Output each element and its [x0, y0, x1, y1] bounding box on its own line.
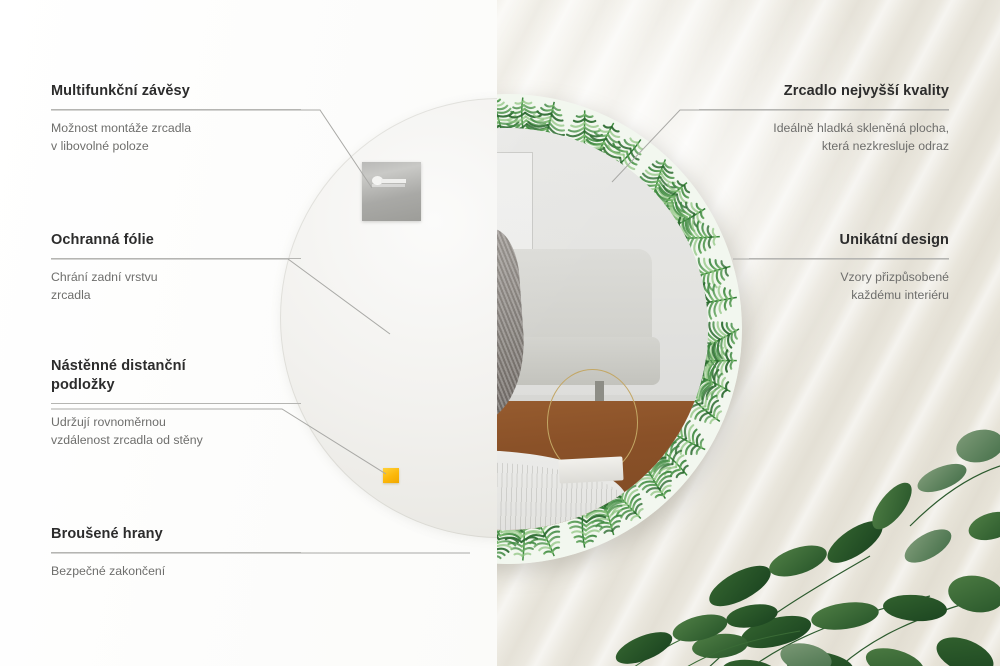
mirror-hanger-plate	[362, 162, 421, 221]
callout-rule	[699, 109, 949, 110]
callout-title: Nástěnné distanční podložky	[51, 357, 301, 395]
callout-zrcadlo-nejvyssi-kvality: Zrcadlo nejvyšší kvality Ideálně hladká …	[699, 82, 949, 155]
callout-title: Broušené hrany	[51, 525, 301, 544]
wall-spacer-pad	[383, 468, 399, 483]
callout-nastenne-distancni-podlozky: Nástěnné distanční podložky Udržují rovn…	[51, 357, 301, 449]
callout-title: Ochranná fólie	[51, 231, 301, 250]
callout-description: Bezpečné zakončení	[51, 563, 301, 581]
foliage-cluster-back	[600, 436, 850, 666]
callout-description: Ideálně hladká skleněná plocha, která ne…	[699, 120, 949, 155]
callout-description: Možnost montáže zrcadla v libovolné polo…	[51, 120, 301, 155]
hanger-slit	[381, 179, 406, 183]
callout-rule	[51, 258, 301, 259]
callout-title: Unikátní design	[749, 231, 949, 250]
infographic-canvas: Multifunkční závěsy Možnost montáže zrca…	[0, 0, 1000, 666]
callout-rule	[51, 403, 301, 404]
callout-title: Zrcadlo nejvyšší kvality	[699, 82, 949, 101]
callout-rule	[749, 258, 949, 259]
callout-brousene-hrany: Broušené hrany Bezpečné zakončení	[51, 525, 301, 581]
hanger-slot-shadow	[372, 184, 405, 187]
callout-description: Udržují rovnoměrnou vzdálenost zrcadla o…	[51, 414, 301, 449]
callout-description: Chrání zadní vrstvu zrcadla	[51, 269, 301, 304]
callout-title: Multifunkční závěsy	[51, 82, 301, 101]
callout-multifunkcni-zavesy: Multifunkční závěsy Možnost montáže zrca…	[51, 82, 301, 155]
callout-rule	[51, 109, 301, 110]
callout-rule	[51, 552, 301, 553]
callout-ochranna-folie: Ochranná fólie Chrání zadní vrstvu zrcad…	[51, 231, 301, 304]
callout-description: Vzory přizpůsobené každému interiéru	[749, 269, 949, 304]
callout-unikatni-design: Unikátní design Vzory přizpůsobené každé…	[749, 231, 949, 304]
